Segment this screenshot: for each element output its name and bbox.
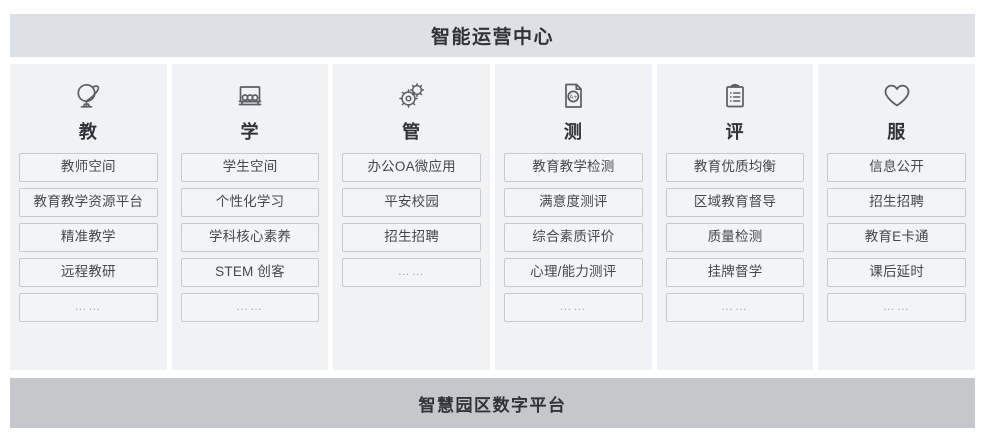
column-chip-list: 教育优质均衡 区域教育督导 质量检测 挂牌督学 …… bbox=[666, 153, 805, 322]
chip-item[interactable]: 课后延时 bbox=[827, 258, 966, 287]
globe-icon bbox=[71, 78, 105, 114]
operations-center-diagram: 智能运营中心 教 教师空间 教育教学资源平台 精准教学 远程教研 …… bbox=[0, 0, 985, 443]
column-guan[interactable]: 管 办公OA微应用 平安校园 招生招聘 …… bbox=[333, 64, 490, 370]
chip-item[interactable]: 教师空间 bbox=[19, 153, 158, 182]
chip-item[interactable]: 平安校园 bbox=[342, 188, 481, 217]
column-chip-list: 教师空间 教育教学资源平台 精准教学 远程教研 …… bbox=[19, 153, 158, 322]
chip-item-more[interactable]: …… bbox=[827, 293, 966, 322]
chip-item[interactable]: 招生招聘 bbox=[342, 223, 481, 252]
classroom-icon bbox=[233, 78, 267, 114]
chip-item[interactable]: 远程教研 bbox=[19, 258, 158, 287]
chip-item[interactable]: 信息公开 bbox=[827, 153, 966, 182]
chip-item[interactable]: 满意度测评 bbox=[504, 188, 643, 217]
chip-item[interactable]: 综合素质评价 bbox=[504, 223, 643, 252]
chip-item[interactable]: 学科核心素养 bbox=[181, 223, 320, 252]
column-xue[interactable]: 学 学生空间 个性化学习 学科核心素养 STEM 创客 …… bbox=[172, 64, 329, 370]
column-chip-list: 教育教学检测 满意度测评 综合素质评价 心理/能力测评 …… bbox=[504, 153, 643, 322]
chip-item[interactable]: 教育教学检测 bbox=[504, 153, 643, 182]
column-fu[interactable]: 服 信息公开 招生招聘 教育E卡通 课后延时 …… bbox=[818, 64, 975, 370]
chip-item[interactable]: 挂牌督学 bbox=[666, 258, 805, 287]
column-jiao[interactable]: 教 教师空间 教育教学资源平台 精准教学 远程教研 …… bbox=[10, 64, 167, 370]
column-ce[interactable]: A+ 测 教育教学检测 满意度测评 综合素质评价 心理/能力测评 …… bbox=[495, 64, 652, 370]
chip-item-more[interactable]: …… bbox=[504, 293, 643, 322]
chip-item[interactable]: 区域教育督导 bbox=[666, 188, 805, 217]
bottom-banner-title: 智慧园区数字平台 bbox=[419, 391, 567, 416]
chip-item-more[interactable]: …… bbox=[666, 293, 805, 322]
chip-item[interactable]: 教育优质均衡 bbox=[666, 153, 805, 182]
chip-item[interactable]: 教育E卡通 bbox=[827, 223, 966, 252]
chip-item[interactable]: 精准教学 bbox=[19, 223, 158, 252]
gears-icon bbox=[395, 78, 429, 114]
svg-text:A+: A+ bbox=[570, 94, 578, 101]
column-title: 服 bbox=[887, 118, 906, 144]
chip-item[interactable]: 心理/能力测评 bbox=[504, 258, 643, 287]
top-banner-title: 智能运营中心 bbox=[431, 22, 554, 49]
chip-item[interactable]: 办公OA微应用 bbox=[342, 153, 481, 182]
chip-item[interactable]: 招生招聘 bbox=[827, 188, 966, 217]
column-chip-list: 办公OA微应用 平安校园 招生招聘 …… bbox=[342, 153, 481, 287]
capability-columns: 教 教师空间 教育教学资源平台 精准教学 远程教研 …… bbox=[10, 64, 975, 370]
chip-item[interactable]: 质量检测 bbox=[666, 223, 805, 252]
chip-item[interactable]: 教育教学资源平台 bbox=[19, 188, 158, 217]
column-title: 教 bbox=[79, 118, 98, 144]
chip-item[interactable]: 个性化学习 bbox=[181, 188, 320, 217]
heart-icon bbox=[880, 78, 914, 114]
column-title: 评 bbox=[726, 118, 745, 144]
clipboard-icon bbox=[718, 78, 752, 114]
column-title: 测 bbox=[564, 118, 583, 144]
chip-item[interactable]: STEM 创客 bbox=[181, 258, 320, 287]
column-title: 管 bbox=[402, 118, 421, 144]
top-banner: 智能运营中心 bbox=[10, 14, 975, 57]
column-chip-list: 信息公开 招生招聘 教育E卡通 课后延时 …… bbox=[827, 153, 966, 322]
chip-item[interactable]: 学生空间 bbox=[181, 153, 320, 182]
column-chip-list: 学生空间 个性化学习 学科核心素养 STEM 创客 …… bbox=[181, 153, 320, 322]
column-ping[interactable]: 评 教育优质均衡 区域教育督导 质量检测 挂牌督学 …… bbox=[657, 64, 814, 370]
bottom-banner: 智慧园区数字平台 bbox=[10, 378, 975, 428]
column-title: 学 bbox=[241, 118, 260, 144]
document-grade-icon: A+ bbox=[556, 78, 590, 114]
chip-item-more[interactable]: …… bbox=[19, 293, 158, 322]
chip-item-more[interactable]: …… bbox=[181, 293, 320, 322]
chip-item-more[interactable]: …… bbox=[342, 258, 481, 287]
